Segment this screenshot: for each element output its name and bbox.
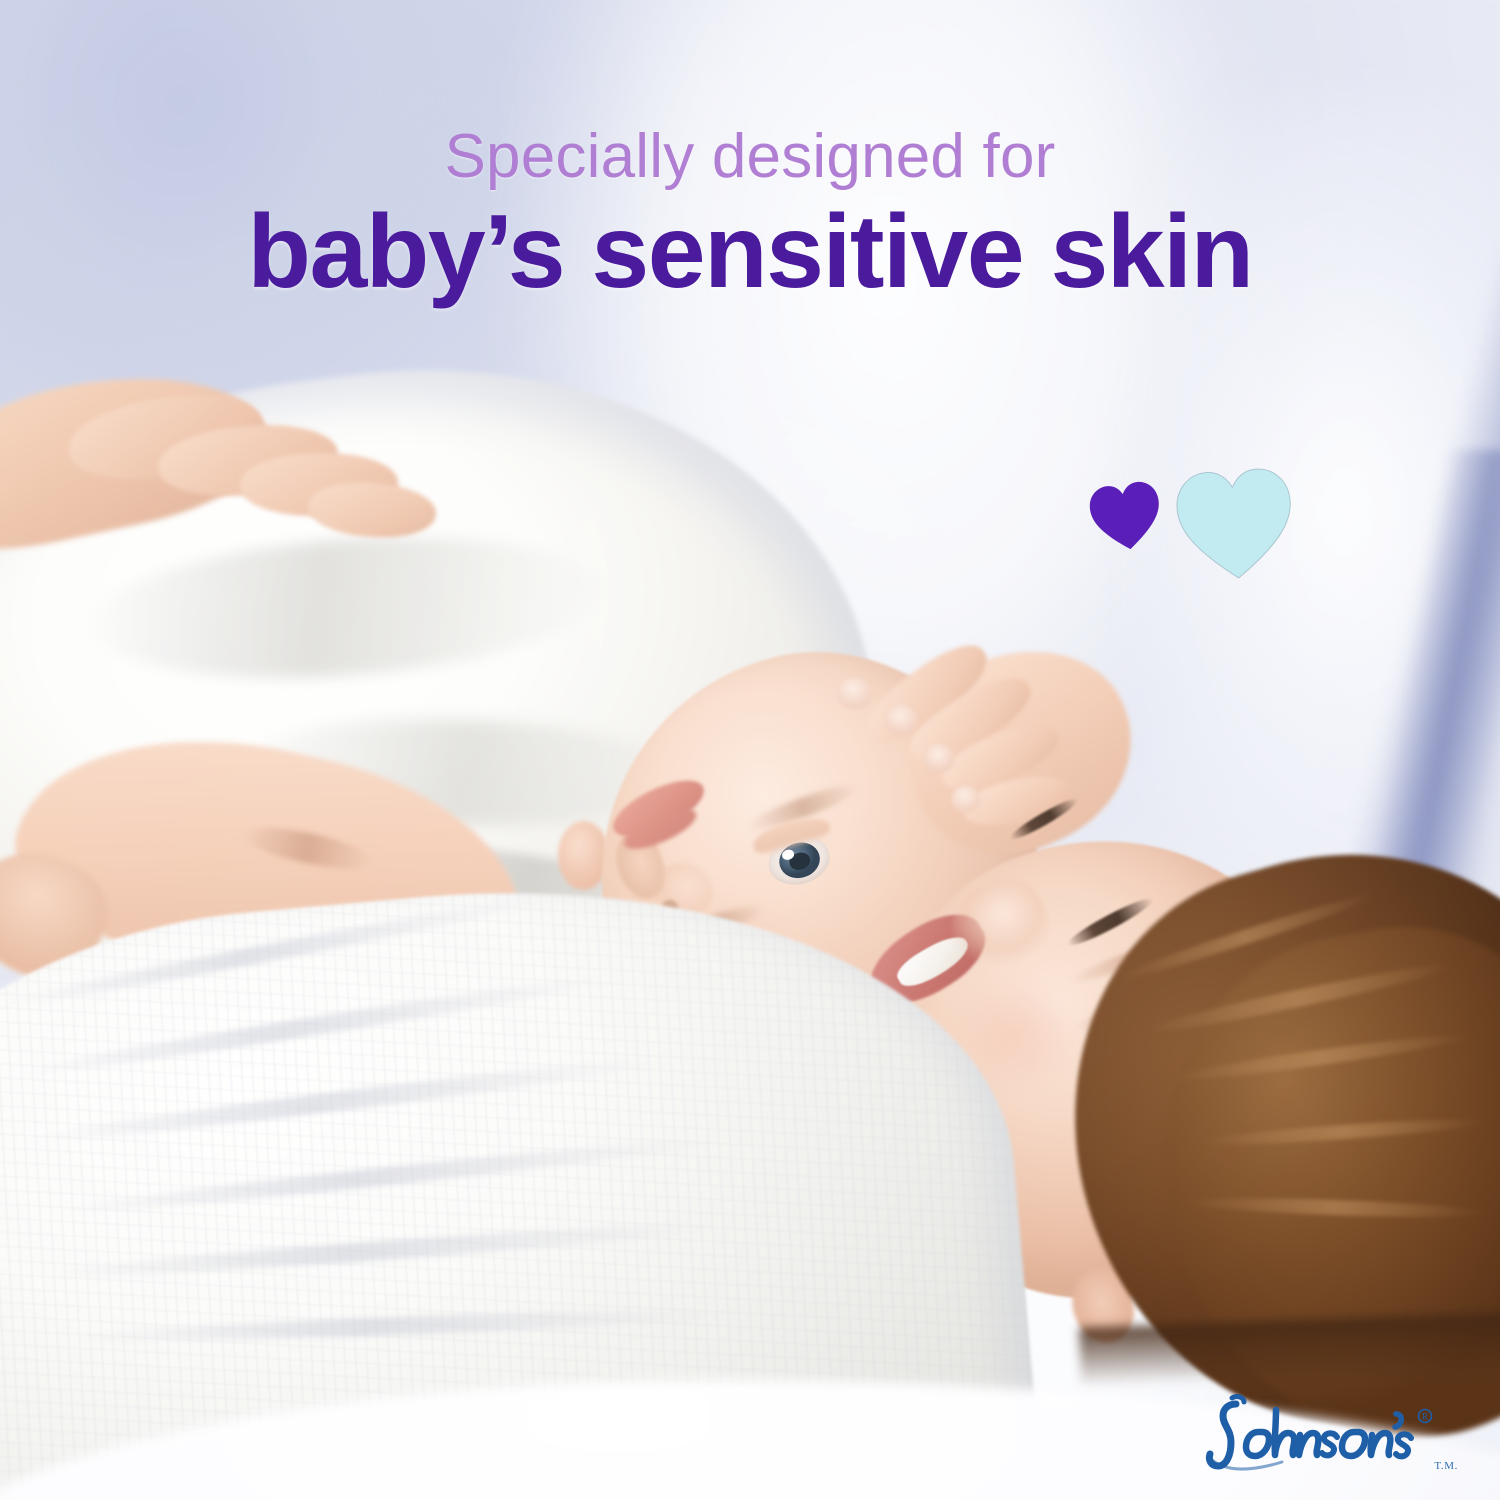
hero-photograph bbox=[0, 0, 1500, 1500]
trademark-note: T.M. bbox=[1434, 1460, 1458, 1472]
mother-fingernail bbox=[885, 705, 918, 735]
heart-icon-large bbox=[1172, 462, 1298, 588]
johnsons-logo-icon: R T.M. bbox=[1196, 1392, 1464, 1478]
svg-text:R: R bbox=[1422, 1412, 1428, 1422]
mother-fingernail bbox=[924, 744, 954, 773]
heart-icon-small bbox=[1085, 477, 1166, 556]
hearts-group bbox=[1080, 460, 1310, 595]
mother-fingernail bbox=[951, 786, 980, 813]
ad-creative: Specially designed for baby’s sensitive … bbox=[0, 0, 1500, 1500]
mother-fingernail bbox=[837, 678, 872, 709]
